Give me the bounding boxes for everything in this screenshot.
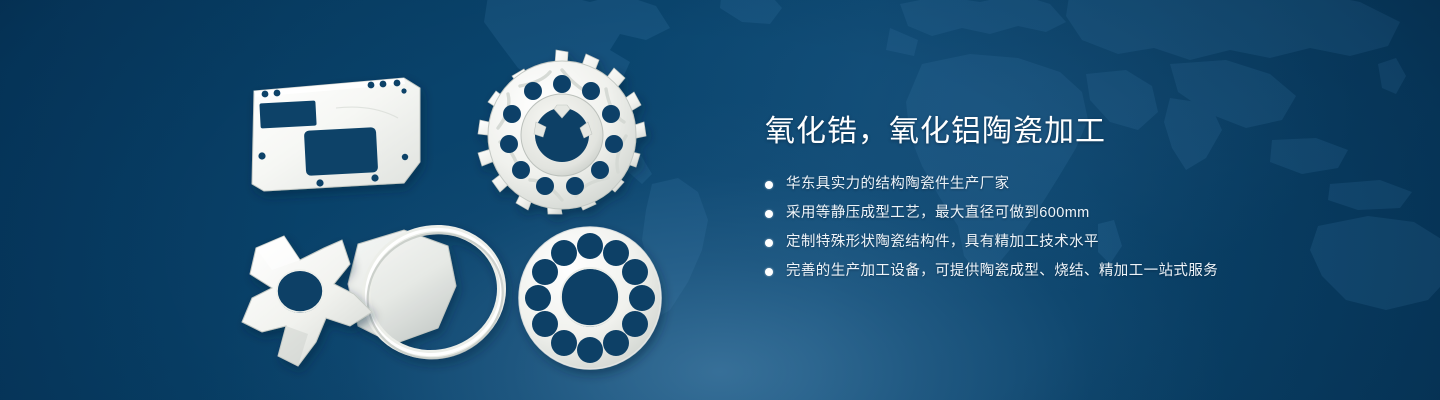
ceramic-products-image [232, 44, 702, 384]
list-item: 完善的生产加工设备，可提供陶瓷成型、烧结、精加工一站式服务 [765, 261, 1385, 282]
feature-text: 完善的生产加工设备，可提供陶瓷成型、烧结、精加工一站式服务 [786, 261, 1218, 282]
list-item: 采用等静压成型工艺，最大直径可做到600mm [765, 203, 1385, 224]
bullet-dot-icon [765, 268, 773, 276]
feature-text: 采用等静压成型工艺，最大直径可做到600mm [786, 203, 1090, 224]
ceramic-impeller-part [478, 50, 646, 214]
bullet-dot-icon [765, 210, 773, 218]
list-item: 定制特殊形状陶瓷结构件，具有精加工技术水平 [765, 232, 1385, 253]
feature-text: 华东具实力的结构陶瓷件生产厂家 [786, 174, 1010, 195]
bullet-dot-icon [765, 239, 773, 247]
ceramic-perforated-disc-part [519, 227, 661, 369]
ceramic-plate-part [252, 78, 420, 191]
ceramic-cross-part [242, 236, 372, 366]
banner-copy: 氧化锆，氧化铝陶瓷加工 华东具实力的结构陶瓷件生产厂家 采用等静压成型工艺，最大… [765, 112, 1385, 282]
page-title: 氧化锆，氧化铝陶瓷加工 [765, 112, 1385, 152]
bullet-dot-icon [765, 181, 773, 189]
feature-text: 定制特殊形状陶瓷结构件，具有精加工技术水平 [786, 232, 1099, 253]
feature-list: 华东具实力的结构陶瓷件生产厂家 采用等静压成型工艺，最大直径可做到600mm 定… [765, 174, 1385, 282]
list-item: 华东具实力的结构陶瓷件生产厂家 [765, 174, 1385, 195]
ceramic-ring-part [348, 213, 518, 375]
ceramic-product-banner: 氧化锆，氧化铝陶瓷加工 华东具实力的结构陶瓷件生产厂家 采用等静压成型工艺，最大… [0, 0, 1440, 400]
